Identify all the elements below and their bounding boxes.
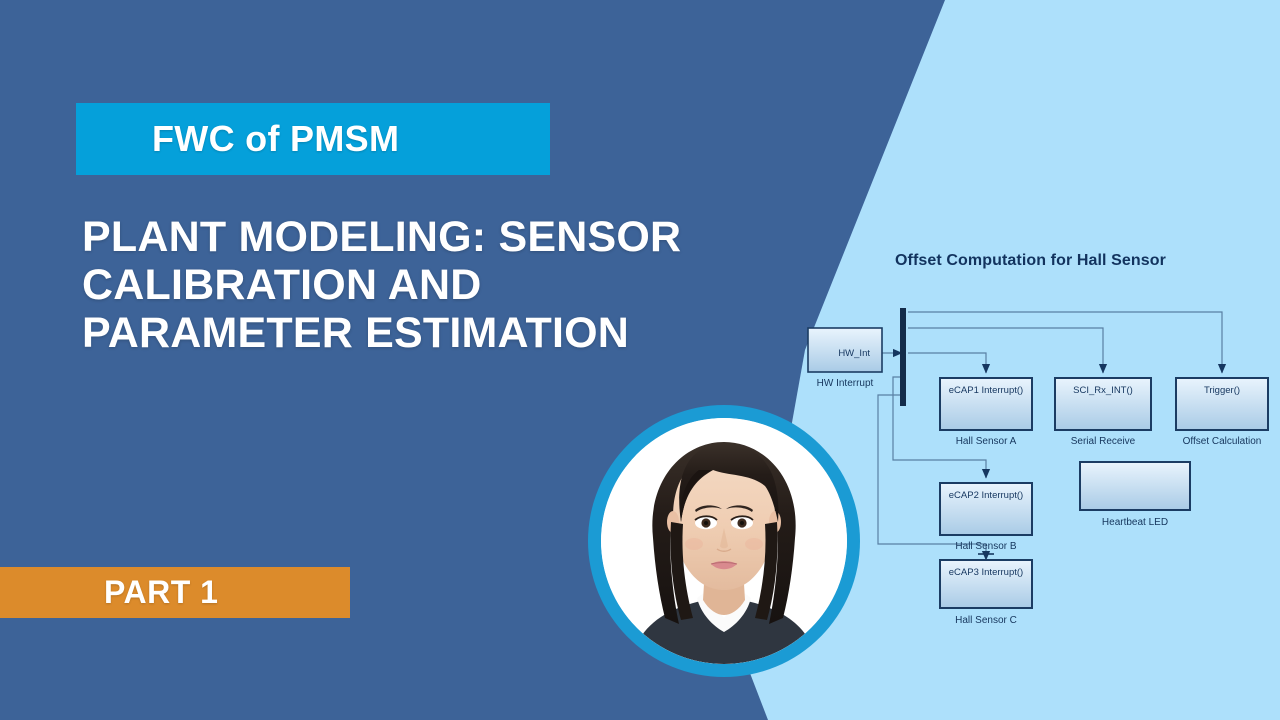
block-function-label: Trigger()	[1204, 385, 1240, 396]
block-function-label: SCI_Rx_INT()	[1073, 385, 1133, 396]
part-banner: PART 1	[0, 567, 350, 618]
block-caption: Hall Sensor A	[956, 436, 1017, 447]
simulink-diagram: Offset Computation for Hall Sensor	[790, 240, 1270, 630]
diagram-canvas: HW_Int HW Interrupt eCAP1 Interrupt() Ha…	[790, 240, 1270, 630]
block-function-label: HW_Int	[838, 348, 870, 359]
diagram-block-offset-calculation[interactable]: Trigger() Offset Calculation	[1176, 378, 1268, 447]
diagram-block-hall-sensor-b[interactable]: eCAP2 Interrupt() Hall Sensor B	[940, 483, 1032, 552]
series-badge-label: FWC of PMSM	[76, 118, 399, 160]
page-title: Plant Modeling: Sensor Calibration and P…	[82, 213, 722, 357]
block-caption: HW Interrupt	[817, 378, 874, 389]
block-caption: Hall Sensor B	[955, 541, 1016, 552]
block-function-label: eCAP3 Interrupt()	[949, 567, 1023, 578]
avatar-photo-frame	[601, 418, 847, 664]
part-banner-label: PART 1	[0, 574, 218, 611]
block-caption: Hall Sensor C	[955, 615, 1017, 626]
diagram-block-serial-receive[interactable]: SCI_Rx_INT() Serial Receive	[1055, 378, 1151, 447]
diagram-block-hall-sensor-a[interactable]: eCAP1 Interrupt() Hall Sensor A	[940, 378, 1032, 447]
block-function-label: eCAP1 Interrupt()	[949, 385, 1023, 396]
avatar-photo	[601, 418, 847, 664]
block-caption: Offset Calculation	[1183, 436, 1262, 447]
series-badge: FWC of PMSM	[76, 103, 550, 175]
interrupt-mux-bar	[900, 308, 906, 406]
diagram-block-hw-interrupt[interactable]: HW_Int HW Interrupt	[808, 328, 882, 389]
block-caption: Serial Receive	[1071, 436, 1136, 447]
diagram-block-heartbeat-led[interactable]: Heartbeat LED	[1080, 462, 1190, 528]
avatar	[588, 405, 860, 677]
block-caption: Heartbeat LED	[1102, 517, 1168, 528]
diagram-block-hall-sensor-c[interactable]: eCAP3 Interrupt() Hall Sensor C	[940, 560, 1032, 626]
block-function-label: eCAP2 Interrupt()	[949, 490, 1023, 501]
